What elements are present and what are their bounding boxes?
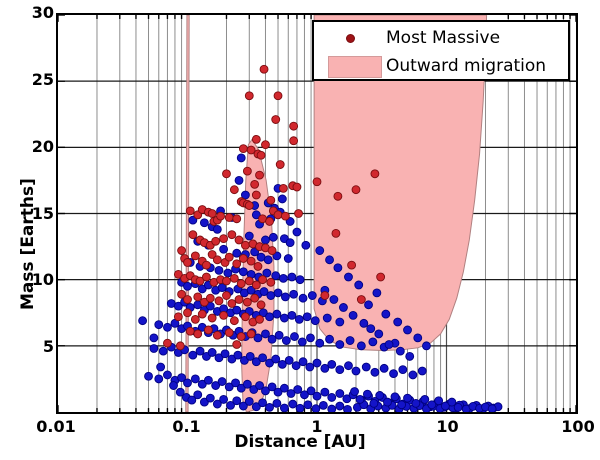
x-axis-label: Distance [AU] [0,432,600,452]
chart-figure: 0.010.1110100 51015202530 Distance [AU] … [0,0,600,460]
y-tick-label: 5 [10,337,54,356]
y-tick-label: 20 [10,137,54,156]
legend-item-outward-migration: Outward migration [314,51,568,81]
legend-label-outward-migration: Outward migration [386,51,546,81]
chart-legend: Most Massive Outward migration [312,20,570,81]
y-tick-label: 25 [10,70,54,89]
legend-marker-patch [324,51,380,81]
y-tick-label: 30 [10,3,54,22]
legend-marker-dot [324,23,380,53]
legend-label-most-massive: Most Massive [386,23,500,53]
legend-item-most-massive: Most Massive [314,23,568,53]
y-axis-label: Mass [Earths] [18,178,38,310]
